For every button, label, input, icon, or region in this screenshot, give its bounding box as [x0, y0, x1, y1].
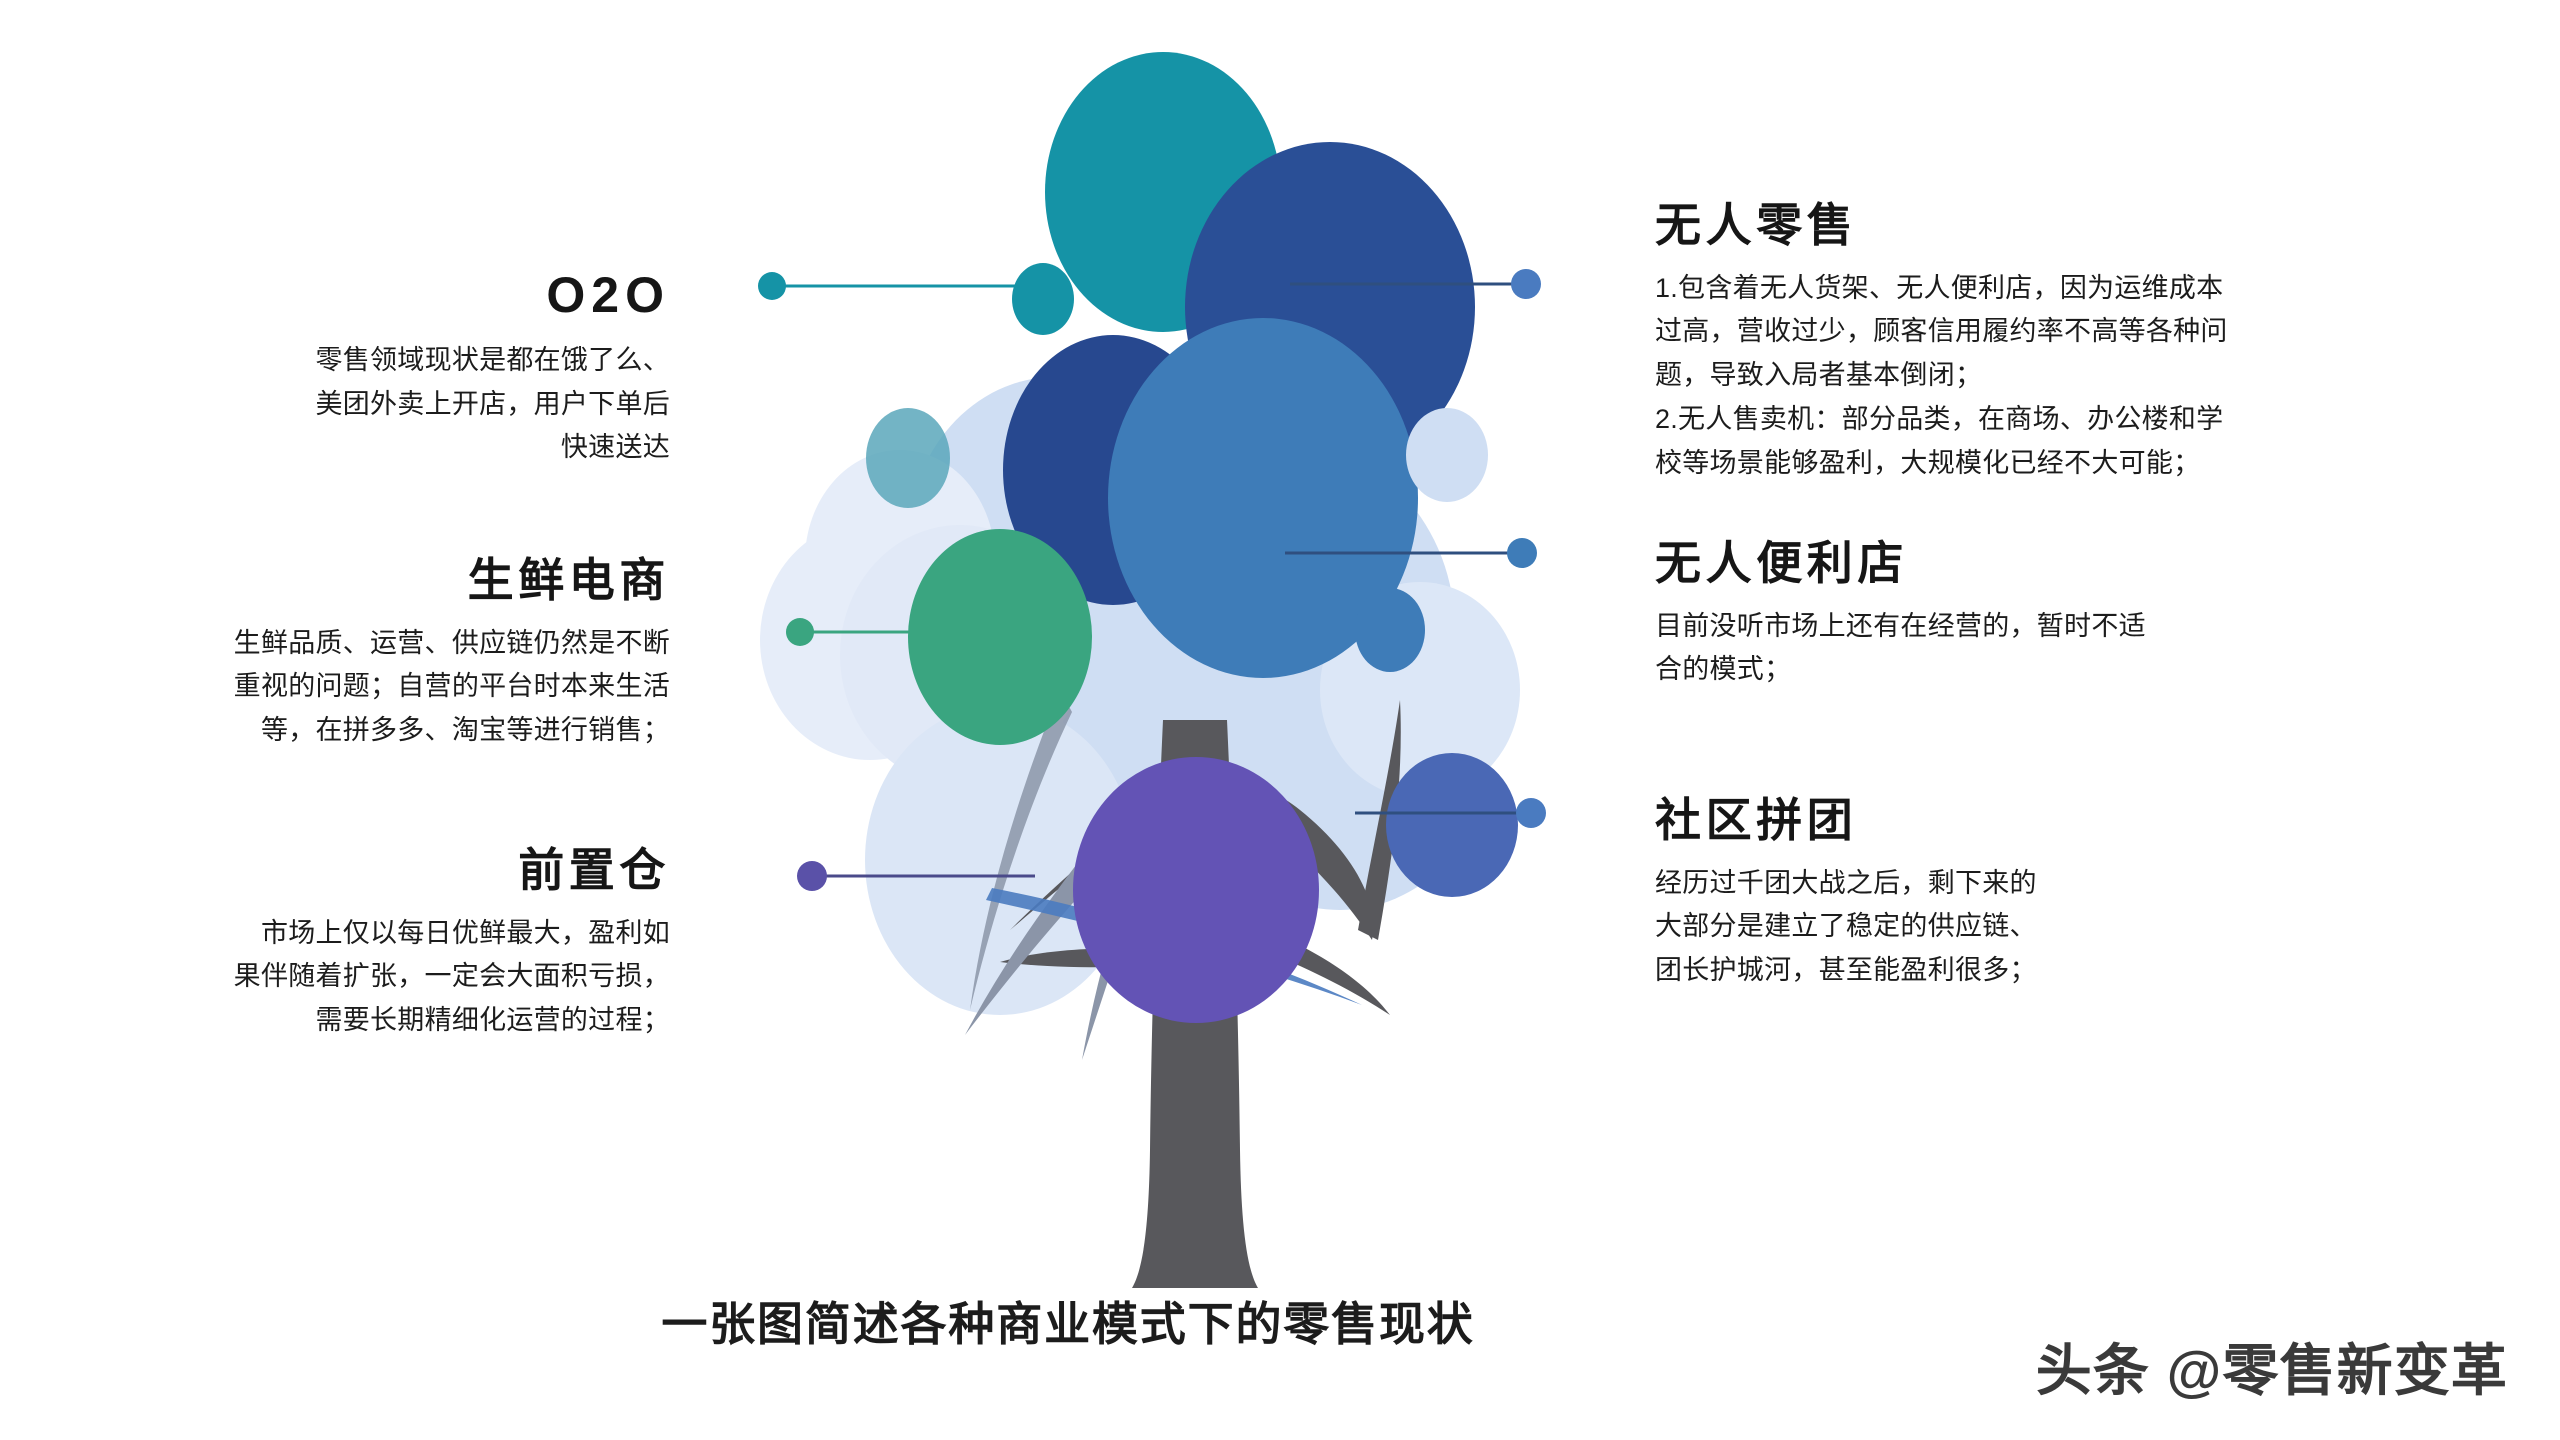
model-body-line: 1.包含着无人货架、无人便利店，因为运维成本 [1655, 267, 2455, 311]
foliage-ball-teal [1045, 52, 1281, 332]
model-body-line: 快速送达 [170, 426, 670, 470]
model-body-unmanned-retail: 1.包含着无人货架、无人便利店，因为运维成本 过高，营收过少，顾客信用履约率不高… [1655, 267, 2455, 486]
foliage-ball-navy-right [1386, 753, 1518, 897]
model-block-community-group-buy: 社区拼团 经历过千团大战之后，剩下来的 大部分是建立了稳定的供应链、 团长护城河… [1655, 795, 2455, 993]
model-title-unmanned-store: 无人便利店 [1655, 538, 2455, 589]
model-body-line: 合的模式； [1655, 648, 2455, 692]
connector-lines [772, 284, 1531, 876]
foliage-ball-periwinkle-top [1173, 128, 1251, 226]
model-body-line: 经历过千团大战之后，剩下来的 [1655, 862, 2455, 906]
foliage-ball-teal-small [1012, 263, 1074, 335]
connector-dots [758, 269, 1546, 891]
model-title-community-group-buy: 社区拼团 [1655, 795, 2455, 846]
model-body-line: 题，导致入局者基本倒闭； [1655, 354, 2455, 398]
foliage-ball-navy [1185, 142, 1475, 472]
model-block-o2o: O2O 零售领域现状是都在饿了么、 美团外卖上开店，用户下单后 快速送达 [170, 268, 670, 470]
connector-dot-front [797, 861, 827, 891]
model-title-o2o: O2O [170, 268, 670, 323]
foliage-ball-teal-grey [866, 408, 950, 508]
foliage-ball-navy-mid [1003, 335, 1223, 605]
model-block-front-warehouse: 前置仓 市场上仅以每日优鲜最大，盈利如 果伴随着扩张，一定会大面积亏损， 需要长… [150, 845, 670, 1043]
watermark-credit: 头条 @零售新变革 [2036, 1326, 2508, 1407]
page-title: 一张图简述各种商业模式下的零售现状 [0, 1288, 2348, 1354]
model-title-fresh-ecommerce: 生鲜电商 [170, 555, 670, 606]
foliage-ball-pale-right [1406, 408, 1488, 502]
connector-dot-community [1516, 798, 1546, 828]
connector-dot-o2o [758, 272, 786, 300]
model-body-community-group-buy: 经历过千团大战之后，剩下来的 大部分是建立了稳定的供应链、 团长护城河，甚至能盈… [1655, 862, 2455, 993]
model-title-front-warehouse: 前置仓 [150, 845, 670, 896]
model-body-line: 团长护城河，甚至能盈利很多； [1655, 949, 2455, 993]
model-block-fresh-ecommerce: 生鲜电商 生鲜品质、运营、供应链仍然是不断 重视的问题；自营的平台时本来生活 等… [170, 555, 670, 753]
foliage-balls [866, 52, 1518, 1023]
model-body-line: 2.无人售卖机：部分品类，在商场、办公楼和学 [1655, 398, 2455, 442]
foliage-ball-green [908, 529, 1092, 745]
model-body-line: 需要长期精细化运营的过程； [150, 999, 670, 1043]
model-body-front-warehouse: 市场上仅以每日优鲜最大，盈利如 果伴随着扩张，一定会大面积亏损， 需要长期精细化… [150, 912, 670, 1043]
model-title-unmanned-retail: 无人零售 [1655, 200, 2455, 251]
pale-foliage-cluster [760, 330, 1520, 1015]
infographic-canvas: O2O 零售领域现状是都在饿了么、 美团外卖上开店，用户下单后 快速送达 生鲜电… [0, 0, 2560, 1440]
model-body-line: 美团外卖上开店，用户下单后 [170, 383, 670, 427]
model-body-line: 重视的问题；自营的平台时本来生活 [170, 665, 670, 709]
model-body-o2o: 零售领域现状是都在饿了么、 美团外卖上开店，用户下单后 快速送达 [170, 339, 670, 470]
model-body-unmanned-store: 目前没听市场上还有在经营的，暂时不适 合的模式； [1655, 605, 2455, 692]
tree-trunk-and-branches [965, 690, 1401, 1288]
model-body-fresh-ecommerce: 生鲜品质、运营、供应链仍然是不断 重视的问题；自营的平台时本来生活 等，在拼多多… [170, 622, 670, 753]
connector-dot-unmanned [1511, 269, 1541, 299]
model-body-line: 生鲜品质、运营、供应链仍然是不断 [170, 622, 670, 666]
connector-dot-fresh [786, 618, 814, 646]
model-body-line: 过高，营收过少，顾客信用履约率不高等各种问 [1655, 310, 2455, 354]
connector-dot-store [1507, 538, 1537, 568]
model-body-line: 果伴随着扩张，一定会大面积亏损， [150, 955, 670, 999]
model-block-unmanned-store: 无人便利店 目前没听市场上还有在经营的，暂时不适 合的模式； [1655, 538, 2455, 692]
foliage-ball-blue-small [1355, 588, 1425, 672]
model-body-line: 零售领域现状是都在饿了么、 [170, 339, 670, 383]
model-body-line: 等，在拼多多、淘宝等进行销售； [170, 709, 670, 753]
foliage-ball-purple [1073, 757, 1319, 1023]
model-body-line: 目前没听市场上还有在经营的，暂时不适 [1655, 605, 2455, 649]
foliage-ball-blue-main [1108, 318, 1418, 678]
model-body-line: 市场上仅以每日优鲜最大，盈利如 [150, 912, 670, 956]
model-body-line: 大部分是建立了稳定的供应链、 [1655, 905, 2455, 949]
model-body-line: 校等场景能够盈利，大规模化已经不大可能； [1655, 442, 2455, 486]
model-block-unmanned-retail: 无人零售 1.包含着无人货架、无人便利店，因为运维成本 过高，营收过少，顾客信用… [1655, 200, 2455, 485]
